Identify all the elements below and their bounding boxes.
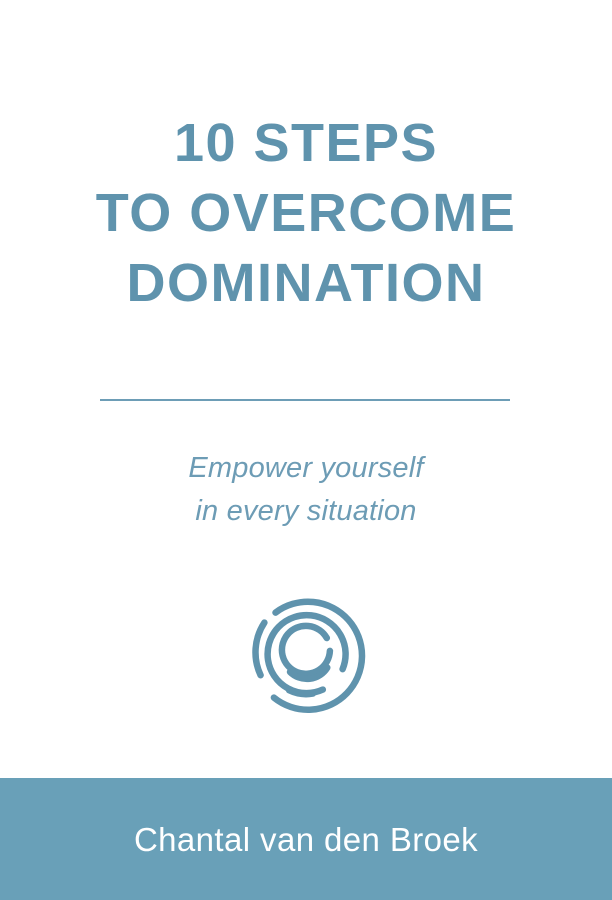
book-subtitle: Empower yourself in every situation [0,447,612,533]
title-line-2: TO OVERCOME [0,178,612,248]
title-divider [100,399,510,401]
title-line-1: 10 STEPS [0,108,612,178]
logo-arc-inner [282,626,330,674]
book-cover: 10 STEPS TO OVERCOME DOMINATION Empower … [0,0,612,900]
logo-arc-middle-segment [289,690,313,694]
book-title: 10 STEPS TO OVERCOME DOMINATION [0,108,612,318]
title-line-3: DOMINATION [0,248,612,318]
author-banner: Chantal van den Broek [0,778,612,900]
concentric-arcs-logo [246,596,366,716]
logo-arc-outer-segment [256,623,265,676]
subtitle-line-1: Empower yourself [0,447,612,490]
subtitle-line-2: in every situation [0,490,612,533]
author-name: Chantal van den Broek [134,821,478,859]
